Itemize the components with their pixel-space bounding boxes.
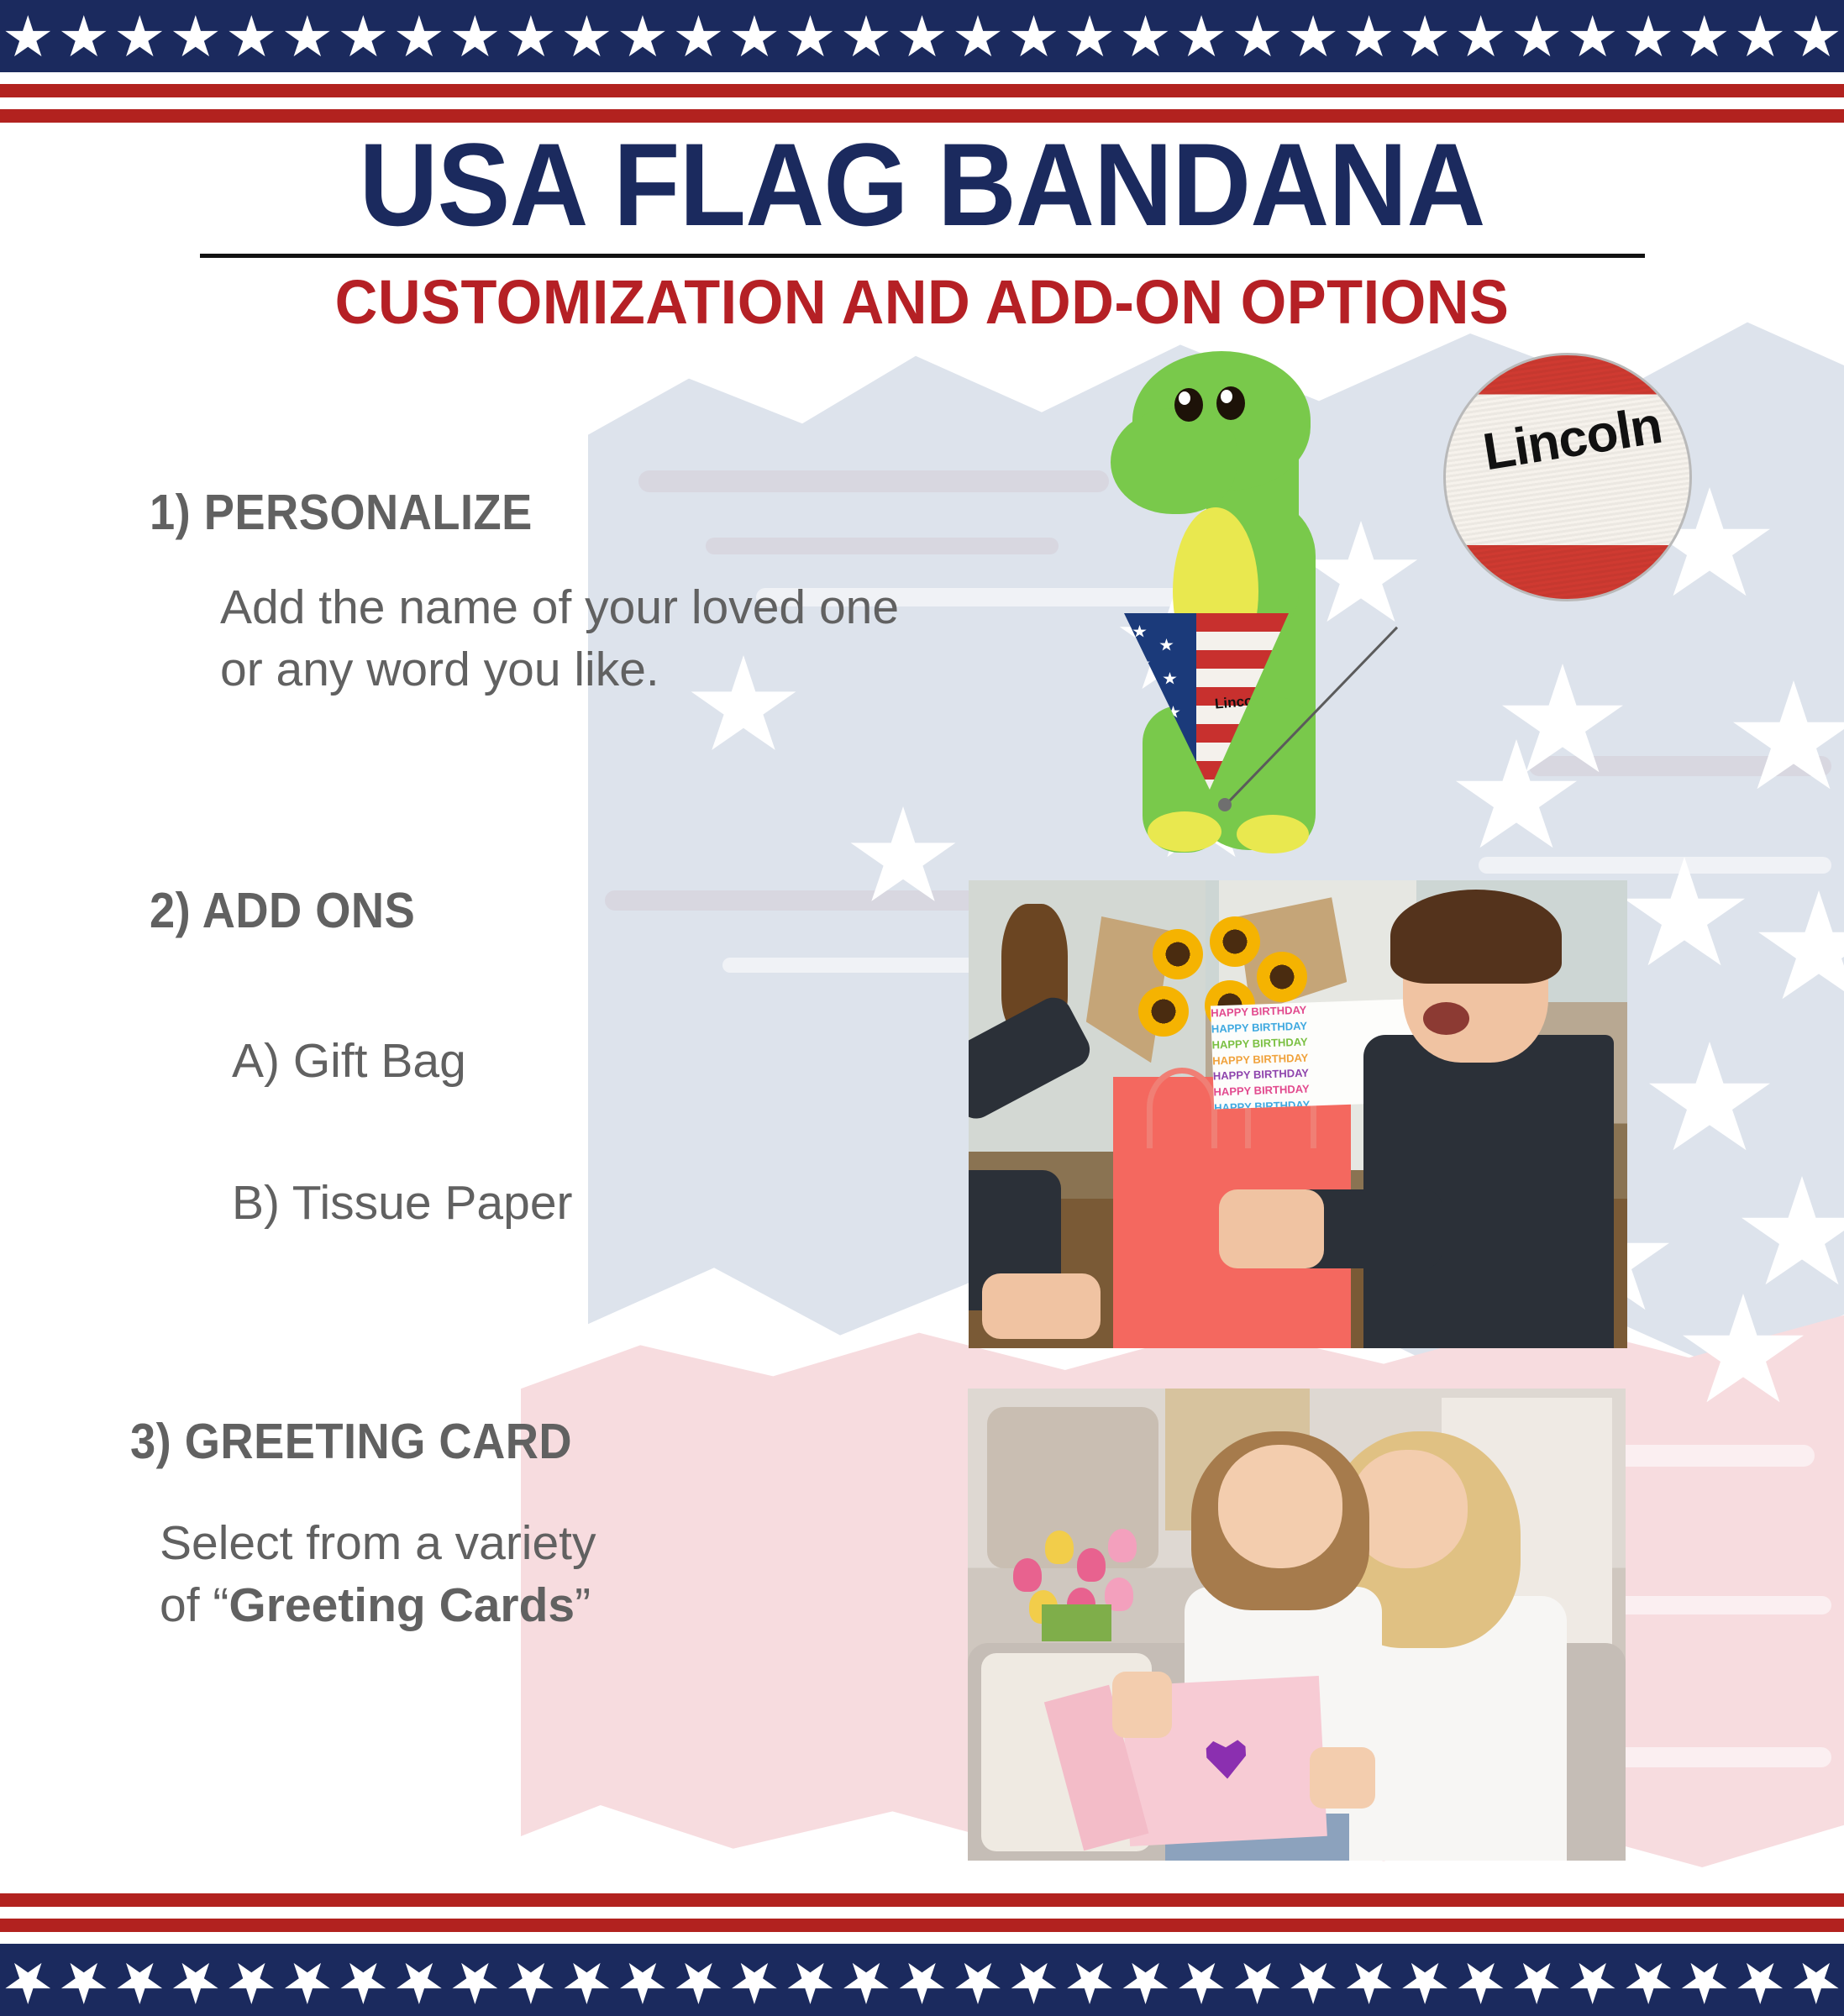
bottom-flag-border: [0, 1893, 1844, 2016]
tulip: [1045, 1530, 1074, 1564]
flag-star: [172, 1959, 219, 2004]
watermark-star: [1453, 739, 1579, 858]
flag-star: [1569, 15, 1616, 60]
flag-star: [1290, 15, 1337, 60]
flag-star: [228, 1959, 275, 2004]
tulip: [1108, 1529, 1137, 1562]
dino-foot-right: [1237, 815, 1309, 853]
flag-star: [116, 15, 163, 60]
flag-star: [899, 15, 946, 60]
heart-icon: [1203, 1738, 1248, 1781]
tulip: [1013, 1558, 1042, 1592]
star-band-top: [0, 0, 1844, 72]
step-2-add-ons: 2) ADD ONS A) Gift Bag B) Tissue Paper: [0, 882, 949, 1234]
watermark-star: [1756, 890, 1844, 1010]
watermark-streak: [1479, 857, 1831, 874]
infographic-page: USA FLAG BANDANA CUSTOMIZATION AND ADD-O…: [0, 0, 1844, 2016]
flag-star: [1401, 15, 1448, 60]
sunflower: [1138, 986, 1189, 1037]
flag-star: [507, 15, 554, 60]
flag-star: [1178, 15, 1225, 60]
daughter-hand-left: [1112, 1672, 1171, 1738]
callout-anchor-dot: [1218, 798, 1232, 811]
flag-star: [1793, 15, 1840, 60]
dino-snout: [1111, 408, 1237, 514]
sunflower: [1153, 929, 1203, 979]
dino-eye-right: [1216, 386, 1245, 420]
flag-star: [954, 15, 1001, 60]
flag-star: [1346, 15, 1393, 60]
flag-star: [954, 1959, 1001, 2004]
boy-hand: [1219, 1189, 1324, 1269]
stripe-red: [0, 1893, 1844, 1907]
flag-star: [451, 15, 498, 60]
flag-star: [1234, 15, 1281, 60]
flag-star: [284, 15, 331, 60]
watermark-star: [1621, 857, 1747, 976]
boy-open-mouth: [1423, 1002, 1469, 1035]
step-3-heading: 3) GREETING CARD: [130, 1413, 884, 1470]
quote-close: ”: [575, 1578, 591, 1632]
flag-star: [786, 15, 833, 60]
stripe-white: [0, 1932, 1844, 1944]
flag-star: [396, 1959, 443, 2004]
flag-star: [507, 1959, 554, 2004]
flag-star: [843, 15, 890, 60]
addon-option-b: B) Tissue Paper: [232, 1173, 949, 1233]
flag-star: [396, 15, 443, 60]
flag-star: [1122, 15, 1169, 60]
flag-star: [339, 1959, 386, 2004]
addon-option-a: A) Gift Bag: [232, 1032, 949, 1091]
tulip-bouquet: [1007, 1511, 1165, 1634]
flag-star: [60, 1959, 108, 2004]
stripe-red: [0, 1919, 1844, 1932]
flag-star: [339, 15, 386, 60]
gift-bag-handle-left: [1147, 1068, 1218, 1148]
sunflower: [1210, 916, 1260, 967]
watermark-star: [1731, 680, 1844, 800]
flag-star: [1793, 1959, 1840, 2004]
dino-eye-left: [1174, 388, 1203, 422]
stripe-white: [0, 1907, 1844, 1919]
step-1-body-line-2: or any word you like.: [220, 638, 949, 701]
flag-star: [786, 1959, 833, 2004]
flag-star: [4, 15, 51, 60]
watermark-star: [1739, 1176, 1844, 1295]
flag-star: [228, 15, 275, 60]
flag-star: [1234, 1959, 1281, 2004]
gift-bag-photo: HAPPY BIRTHDAY HAPPY BIRTHDAY HAPPY BIRT…: [969, 880, 1627, 1348]
dinosaur-plush-product-photo: Lincoln: [1033, 336, 1437, 857]
flag-star: [1122, 1959, 1169, 2004]
flag-star: [1066, 1959, 1113, 2004]
flag-star: [1290, 1959, 1337, 2004]
greeting-cards-emphasis: Greeting Cards: [229, 1578, 575, 1632]
name-magnifier-bubble: [1443, 353, 1692, 601]
dino-foot-left: [1148, 811, 1221, 852]
stripe-red: [0, 84, 1844, 97]
flag-star: [172, 15, 219, 60]
adult-hand: [982, 1273, 1101, 1339]
page-subtitle: CUSTOMIZATION AND ADD-ON OPTIONS: [46, 271, 1798, 333]
step-3-body-line-1: Select from a variety: [160, 1512, 949, 1574]
flag-star: [1346, 1959, 1393, 2004]
flag-star: [1458, 15, 1505, 60]
tulip-stems: [1042, 1604, 1111, 1641]
flag-star: [1178, 1959, 1225, 2004]
flag-star: [1011, 15, 1058, 60]
flag-star: [1401, 1959, 1448, 2004]
flag-star: [4, 1959, 51, 2004]
step-3-greeting-card: 3) GREETING CARD Select from a variety o…: [0, 1413, 949, 1636]
flag-star: [899, 1959, 946, 2004]
flag-star: [1513, 1959, 1560, 2004]
flag-star: [60, 15, 108, 60]
tulip: [1077, 1548, 1106, 1582]
top-flag-border: [0, 0, 1844, 123]
quote-open: of “: [160, 1578, 229, 1632]
sunflower: [1257, 952, 1307, 1002]
title-divider: [200, 254, 1645, 258]
star-band-bottom: [0, 1944, 1844, 2016]
fabric-weave-texture: [1446, 355, 1689, 599]
page-header: USA FLAG BANDANA CUSTOMIZATION AND ADD-O…: [0, 126, 1844, 333]
flag-star: [1458, 1959, 1505, 2004]
flag-star: [116, 1959, 163, 2004]
flag-star: [619, 15, 666, 60]
flag-star: [1011, 1959, 1058, 2004]
flag-star: [731, 15, 778, 60]
mother-hand: [1310, 1747, 1375, 1809]
flag-star: [563, 1959, 610, 2004]
step-3-body-line-2: of “Greeting Cards”: [160, 1574, 949, 1636]
step-1-personalize: 1) PERSONALIZE Add the name of your love…: [0, 484, 949, 701]
watermark-star: [1500, 664, 1626, 783]
step-1-heading: 1) PERSONALIZE: [150, 484, 885, 541]
greeting-card-photo: [968, 1389, 1626, 1861]
flag-star: [451, 1959, 498, 2004]
flag-star: [619, 1959, 666, 2004]
stripe-white: [0, 72, 1844, 84]
step-1-body-line-1: Add the name of your loved one: [220, 576, 949, 638]
flag-star: [843, 1959, 890, 2004]
flag-star: [1513, 15, 1560, 60]
daughter-face: [1218, 1445, 1343, 1567]
flag-star: [284, 1959, 331, 2004]
watermark-streak: [1529, 756, 1831, 776]
step-2-heading: 2) ADD ONS: [150, 882, 885, 939]
boy-hair: [1390, 890, 1562, 983]
flag-star: [1625, 15, 1672, 60]
flag-star: [1736, 1959, 1784, 2004]
flag-star: [1681, 1959, 1728, 2004]
watermark-star: [1647, 1042, 1773, 1161]
watermark-star: [1680, 1294, 1806, 1413]
flag-star: [1066, 15, 1113, 60]
flag-star: [1569, 1959, 1616, 2004]
page-title: USA FLAG BANDANA: [65, 126, 1779, 244]
flag-star: [675, 1959, 722, 2004]
flag-star: [1681, 15, 1728, 60]
flag-star: [1625, 1959, 1672, 2004]
flag-star: [563, 15, 610, 60]
flag-star: [731, 1959, 778, 2004]
flag-star: [1736, 15, 1784, 60]
stripe-white: [0, 97, 1844, 109]
flag-star: [675, 15, 722, 60]
